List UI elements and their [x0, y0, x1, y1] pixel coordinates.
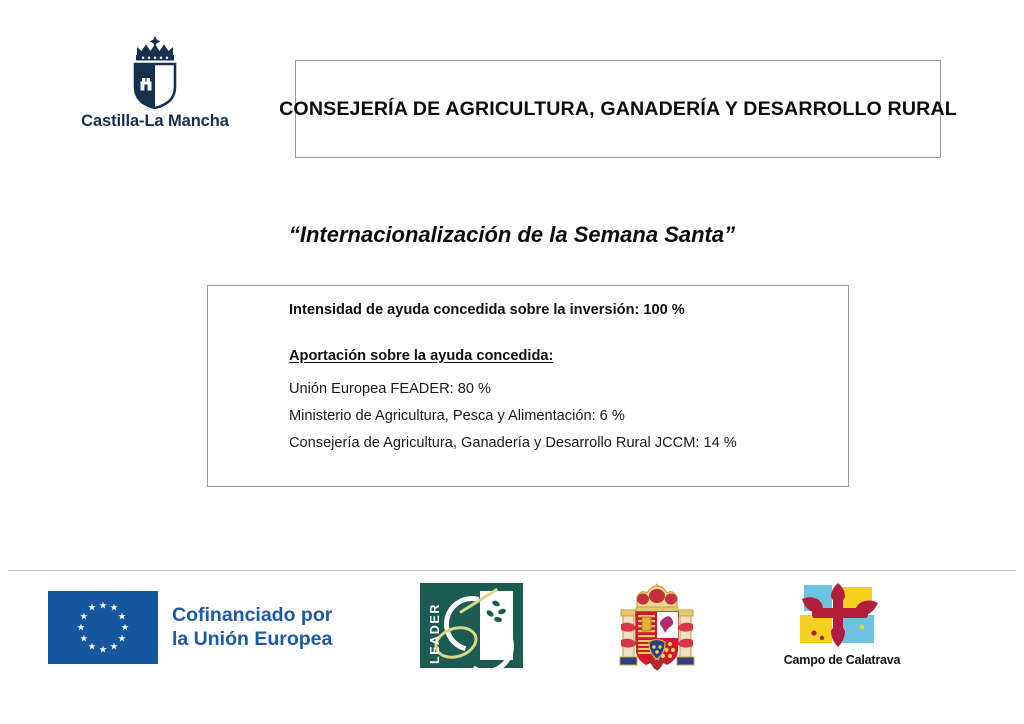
- department-title-box: CONSEJERÍA DE AGRICULTURA, GANADERÍA Y D…: [295, 60, 941, 158]
- eu-text-line2: la Unión Europea: [172, 628, 332, 652]
- funding-details-box: Intensidad de ayuda concedida sobre la i…: [207, 285, 849, 487]
- project-title: “Internacionalización de la Semana Santa…: [0, 222, 1024, 248]
- eu-cofinanced-text: Cofinanciado por la Unión Europea: [172, 604, 332, 652]
- leader-emblem-icon: LEADER: [420, 583, 523, 668]
- eu-star-icon: ★: [118, 612, 127, 622]
- eu-cofinanced-logo: ★★★★★★★★★★★★ Cofinanciado por la Unión E…: [48, 591, 332, 664]
- calatrava-caption: Campo de Calatrava: [782, 653, 902, 667]
- eu-star-icon: ★: [99, 601, 108, 611]
- leader-logo: LEADER: [420, 583, 523, 668]
- eu-star-icon: ★: [88, 604, 97, 614]
- european-union-flag-icon: ★★★★★★★★★★★★: [48, 591, 158, 664]
- header-region: Castilla-La Mancha CONSEJERÍA DE AGRICUL…: [0, 0, 1024, 180]
- spain-coat-of-arms-icon: [601, 578, 713, 674]
- eu-star-icon: ★: [118, 634, 127, 644]
- leader-label: LEADER: [426, 587, 444, 664]
- list-item: Ministerio de Agricultura, Pesca y Alime…: [289, 403, 737, 430]
- list-item: Consejería de Agricultura, Ganadería y D…: [289, 430, 737, 457]
- contribution-list: Unión Europea FEADER: 80 % Ministerio de…: [289, 376, 737, 457]
- spain-coat-of-arms-logo: [601, 578, 713, 679]
- eu-star-icon: ★: [80, 634, 89, 644]
- list-item: Unión Europea FEADER: 80 %: [289, 376, 737, 403]
- castilla-la-mancha-shield-icon: [74, 33, 236, 109]
- footer-divider: [8, 570, 1016, 571]
- campo-de-calatrava-logo: Campo de Calatrava: [782, 581, 902, 667]
- eu-star-icon: ★: [110, 642, 119, 652]
- aid-intensity-line: Intensidad de ayuda concedida sobre la i…: [289, 302, 685, 318]
- eu-star-icon: ★: [88, 642, 97, 652]
- footer-logo-strip: ★★★★★★★★★★★★ Cofinanciado por la Unión E…: [0, 578, 1024, 678]
- contribution-heading: Aportación sobre la ayuda concedida:: [289, 348, 553, 364]
- eu-star-icon: ★: [99, 645, 108, 655]
- brand-name: Castilla-La Mancha: [74, 112, 236, 131]
- eu-star-icon: ★: [121, 623, 130, 633]
- calatrava-cross-icon: [786, 581, 898, 651]
- eu-text-line1: Cofinanciado por: [172, 604, 332, 628]
- eu-star-icon: ★: [77, 623, 86, 633]
- brand-logo: Castilla-La Mancha: [74, 33, 236, 131]
- department-title: CONSEJERÍA DE AGRICULTURA, GANADERÍA Y D…: [279, 98, 957, 121]
